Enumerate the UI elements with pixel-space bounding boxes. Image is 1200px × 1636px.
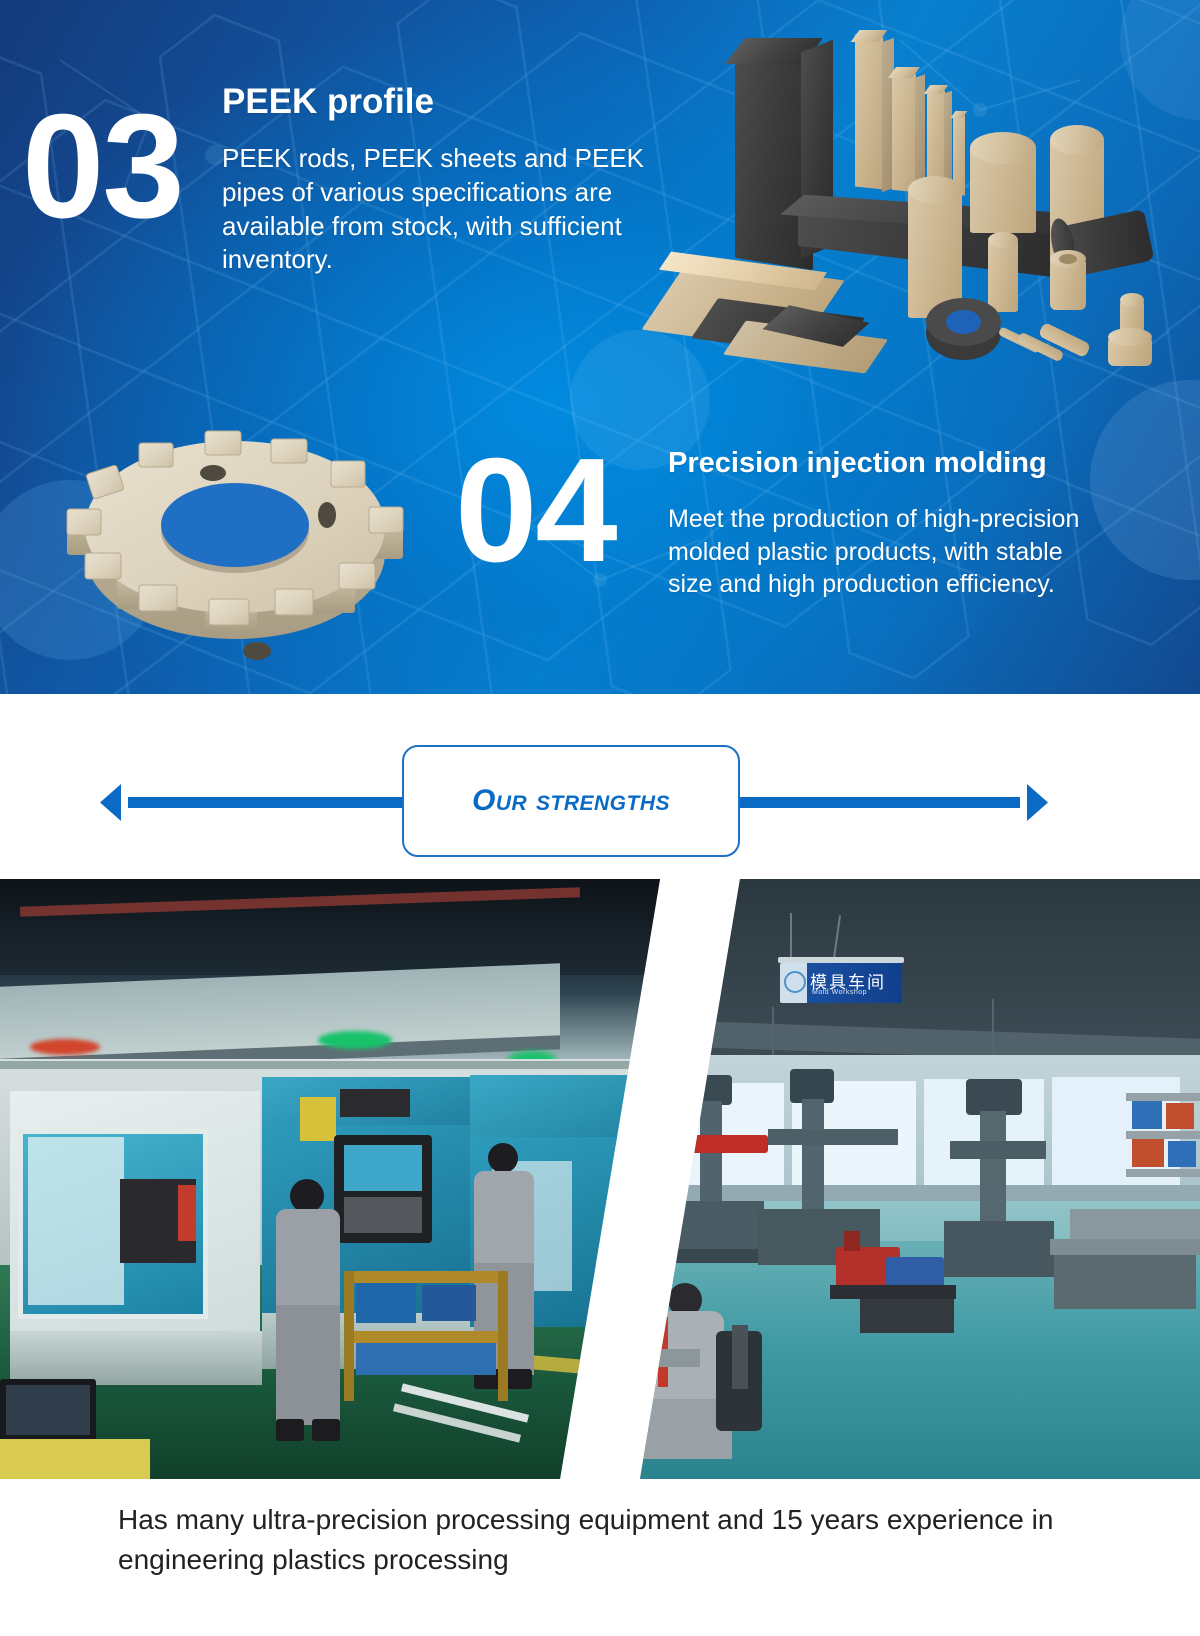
block-number-04: 04 [455, 437, 616, 585]
block-title-03: PEEK profile [222, 82, 434, 121]
arrow-head-right-icon [1014, 784, 1048, 821]
block-body-04: Meet the production of high-precision mo… [668, 503, 1108, 601]
cnc-machining-workshop-photo [0, 879, 660, 1479]
peek-gear-ring-photo [35, 395, 435, 670]
page-caption: Has many ultra-precision processing equi… [118, 1500, 1098, 1580]
peek-capability-page: 03 PEEK profile PEEK rods, PEEK sheets a… [0, 0, 1200, 1636]
arrow-head-left-icon [100, 784, 134, 821]
block-number-03: 03 [22, 93, 183, 241]
mold-workshop-sign-secondary: Mold Workshop [812, 989, 867, 996]
peek-profile-products-photo [620, 18, 1190, 363]
block-body-03: PEEK rods, PEEK sheets and PEEK pipes of… [222, 142, 652, 277]
our-strengths-pill: Our strengths [402, 745, 740, 857]
block-title-04: Precision injection molding [668, 447, 1047, 479]
mold-workshop-photo: 模具车间 Mold Workshop [640, 879, 1200, 1479]
workshop-photo-strip: 模具车间 Mold Workshop [0, 879, 1200, 1479]
our-strengths-label: Our strengths [472, 784, 670, 818]
hero-blue-section: 03 PEEK profile PEEK rods, PEEK sheets a… [0, 0, 1200, 694]
mold-workshop-sign: 模具车间 Mold Workshop [780, 963, 902, 1003]
